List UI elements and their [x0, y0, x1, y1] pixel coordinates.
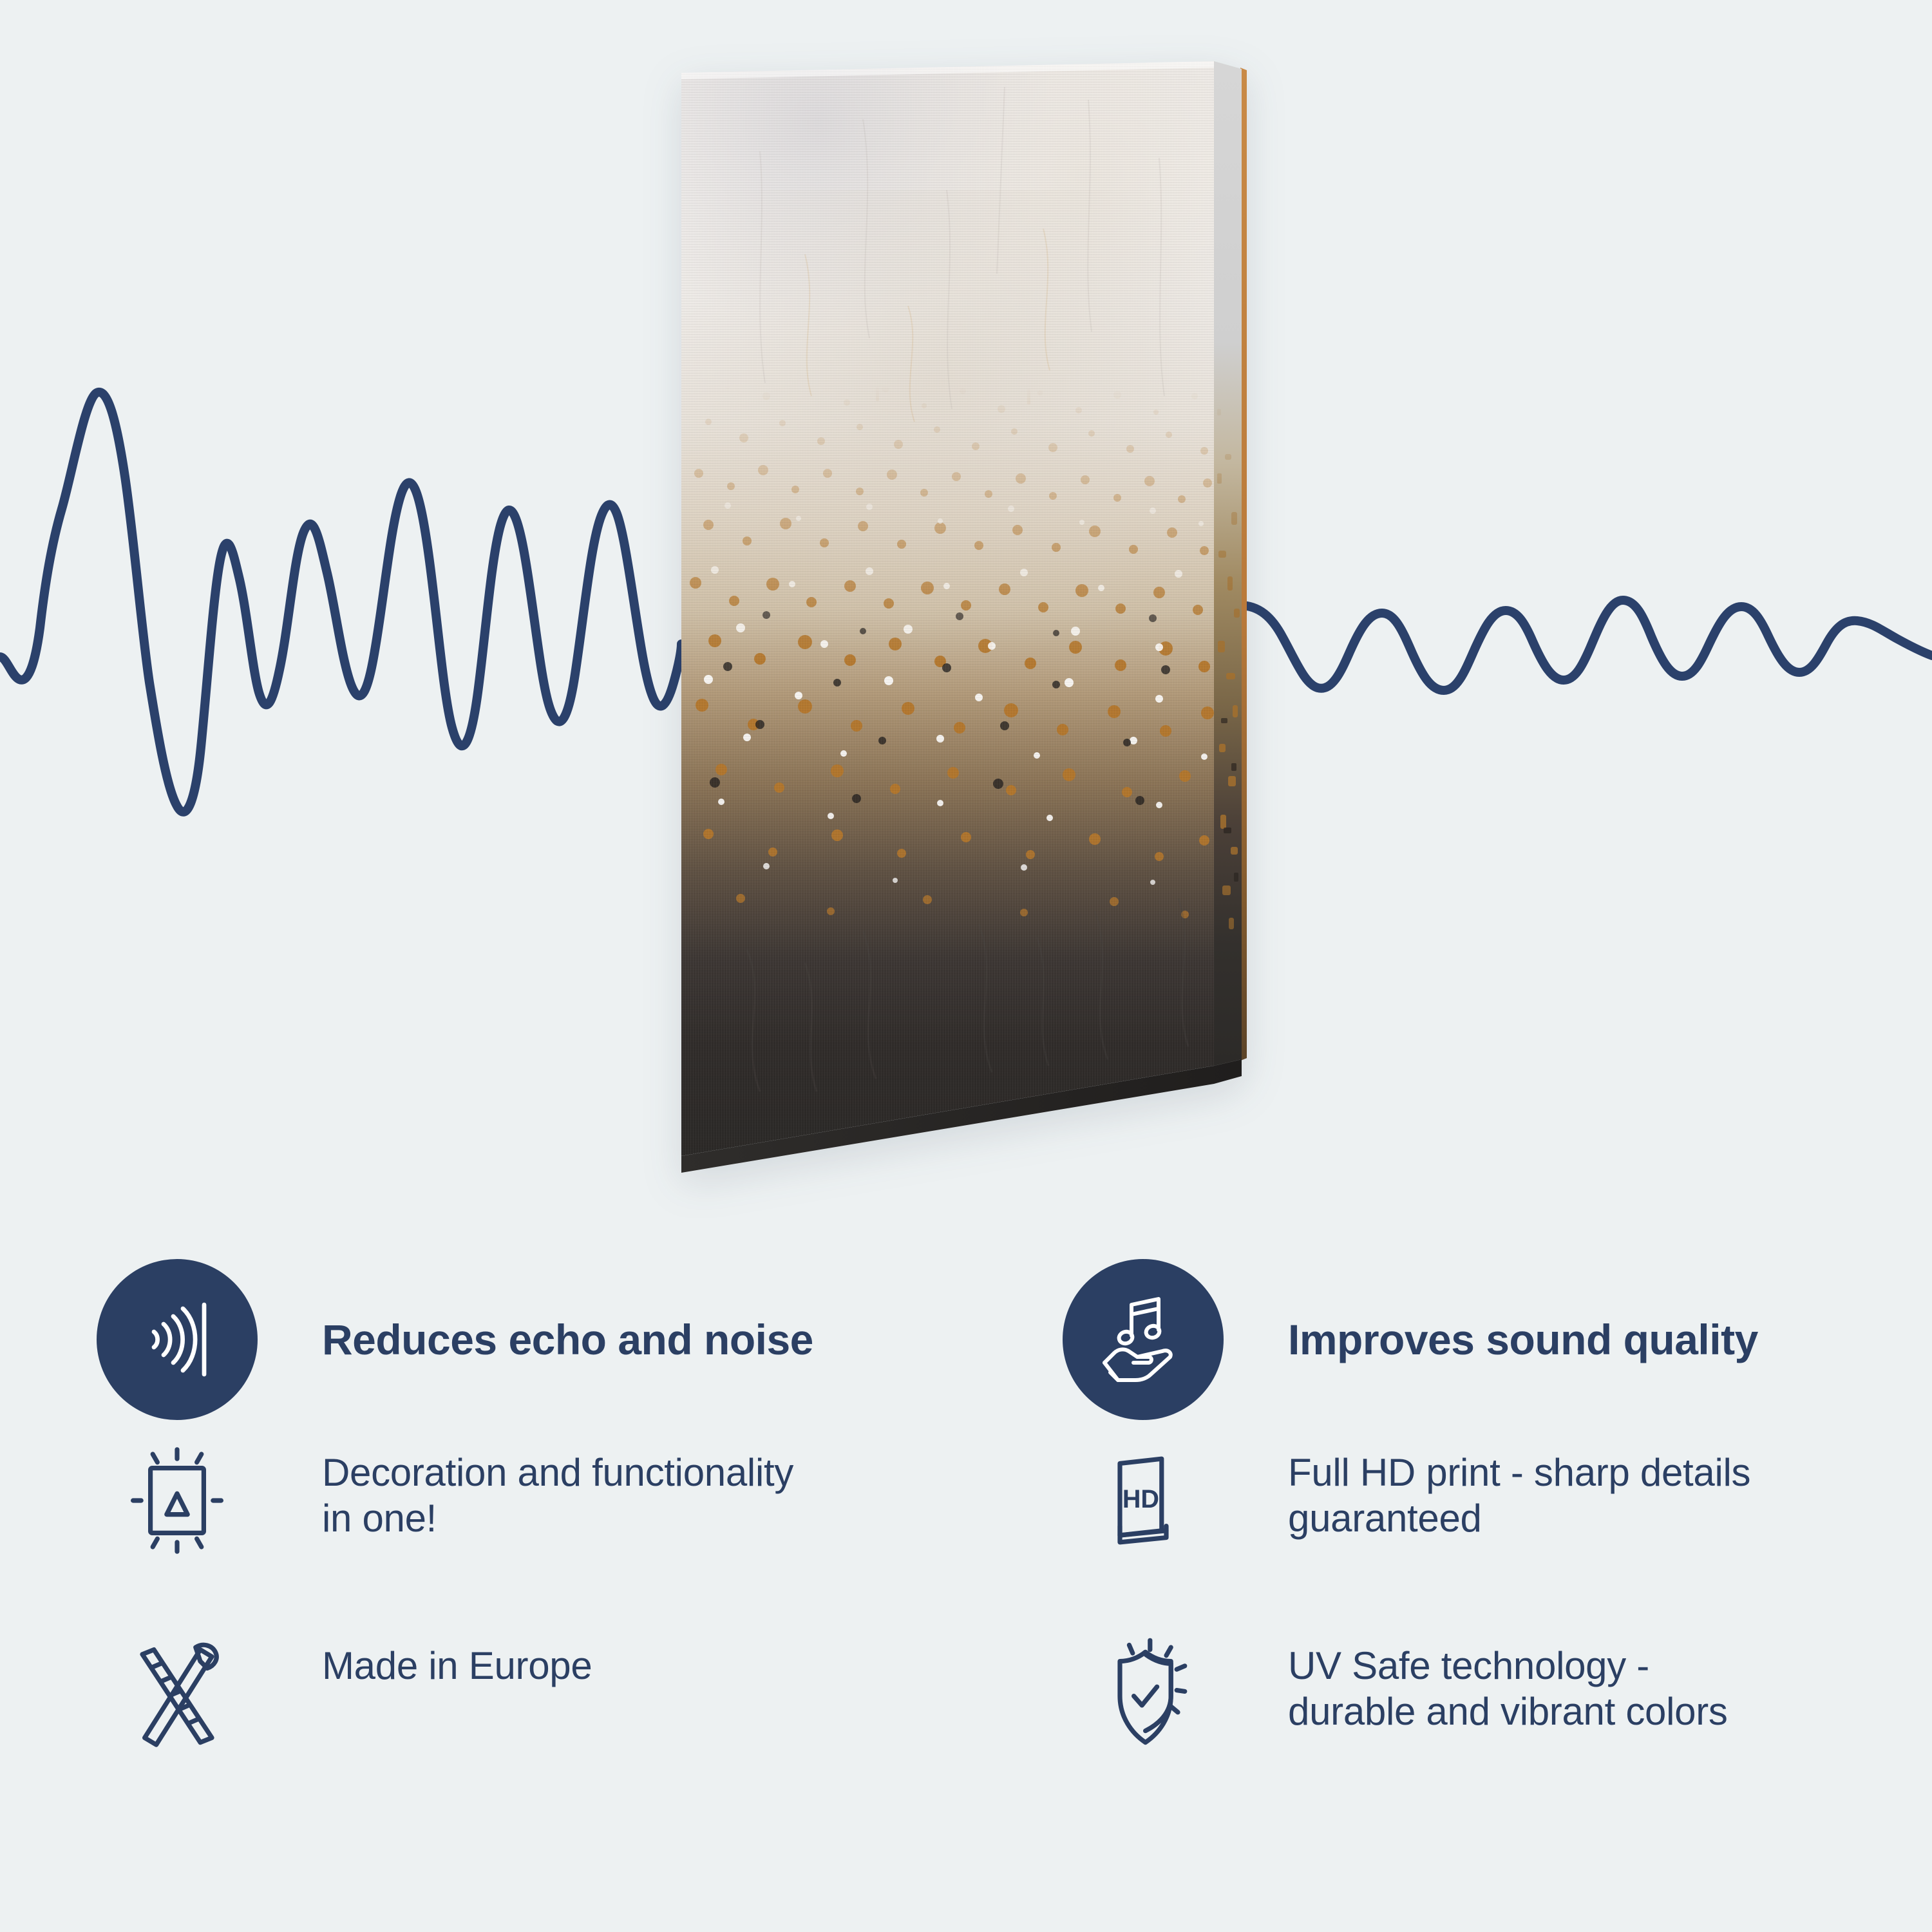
badge-circle [1063, 1259, 1224, 1420]
hd-print-icon: HD [1085, 1443, 1201, 1558]
feature-badge-reduces-echo[interactable]: Reduces echo and noise [97, 1243, 1030, 1436]
feature-text-decoration: Decoration and functionality in one! [322, 1436, 793, 1542]
ruler-hammer-icon [119, 1636, 235, 1752]
shield-sun-check-icon [1085, 1636, 1201, 1752]
feature-icon-wrap [1063, 1629, 1224, 1758]
feature-line-1: UV Safe technology - [1288, 1643, 1728, 1689]
feature-row-made-in-europe[interactable]: Made in Europe [97, 1629, 1030, 1823]
feature-line-1: Full HD print - sharp details [1288, 1450, 1750, 1496]
badge-label: Reduces echo and noise [322, 1316, 813, 1363]
feature-icon-wrap [97, 1436, 258, 1565]
feature-line-1: Made in Europe [322, 1643, 592, 1689]
feature-line-1: Decoration and functionality [322, 1450, 793, 1496]
badge-label: Improves sound quality [1288, 1316, 1758, 1363]
feature-row-decoration[interactable]: Decoration and functionality in one! [97, 1436, 1030, 1629]
feature-badge-improves-sound[interactable]: Improves sound quality [1063, 1243, 1932, 1436]
feature-line-2: guaranteed [1288, 1496, 1750, 1542]
feature-line-2: durable and vibrant colors [1288, 1689, 1728, 1735]
feature-row-full-hd[interactable]: HD Full HD print - sharp details guarant… [1063, 1436, 1932, 1629]
feature-icon-wrap: HD [1063, 1436, 1224, 1565]
feature-icon-wrap [97, 1629, 258, 1758]
feature-text-full-hd: Full HD print - sharp details guaranteed [1288, 1436, 1750, 1542]
product-canvas [670, 61, 1262, 1220]
feature-text-uv-safe: UV Safe technology - durable and vibrant… [1288, 1629, 1728, 1735]
sound-wave-right-segment [1240, 600, 1932, 690]
infographic-stage: Reduces echo and noise [0, 0, 1932, 1932]
sound-waves-panel-icon [129, 1291, 225, 1388]
framed-picture-shine-icon [119, 1443, 235, 1558]
badge-circle [97, 1259, 258, 1420]
feature-list: Reduces echo and noise [0, 1243, 1932, 1932]
feature-column-right: Improves sound quality HD Full HD pr [1063, 1243, 1932, 1932]
feature-line-2: in one! [322, 1496, 793, 1542]
canvas-artwork-face [670, 61, 1262, 1220]
sound-wave-left-segment [0, 392, 681, 812]
feature-text-made-in-europe: Made in Europe [322, 1629, 592, 1689]
canvas-side-edge [1214, 61, 1242, 1066]
feature-row-uv-safe[interactable]: UV Safe technology - durable and vibrant… [1063, 1629, 1932, 1823]
hd-label: HD [1122, 1485, 1159, 1513]
music-note-hand-icon [1095, 1291, 1191, 1388]
feature-column-left: Reduces echo and noise [97, 1243, 1030, 1932]
